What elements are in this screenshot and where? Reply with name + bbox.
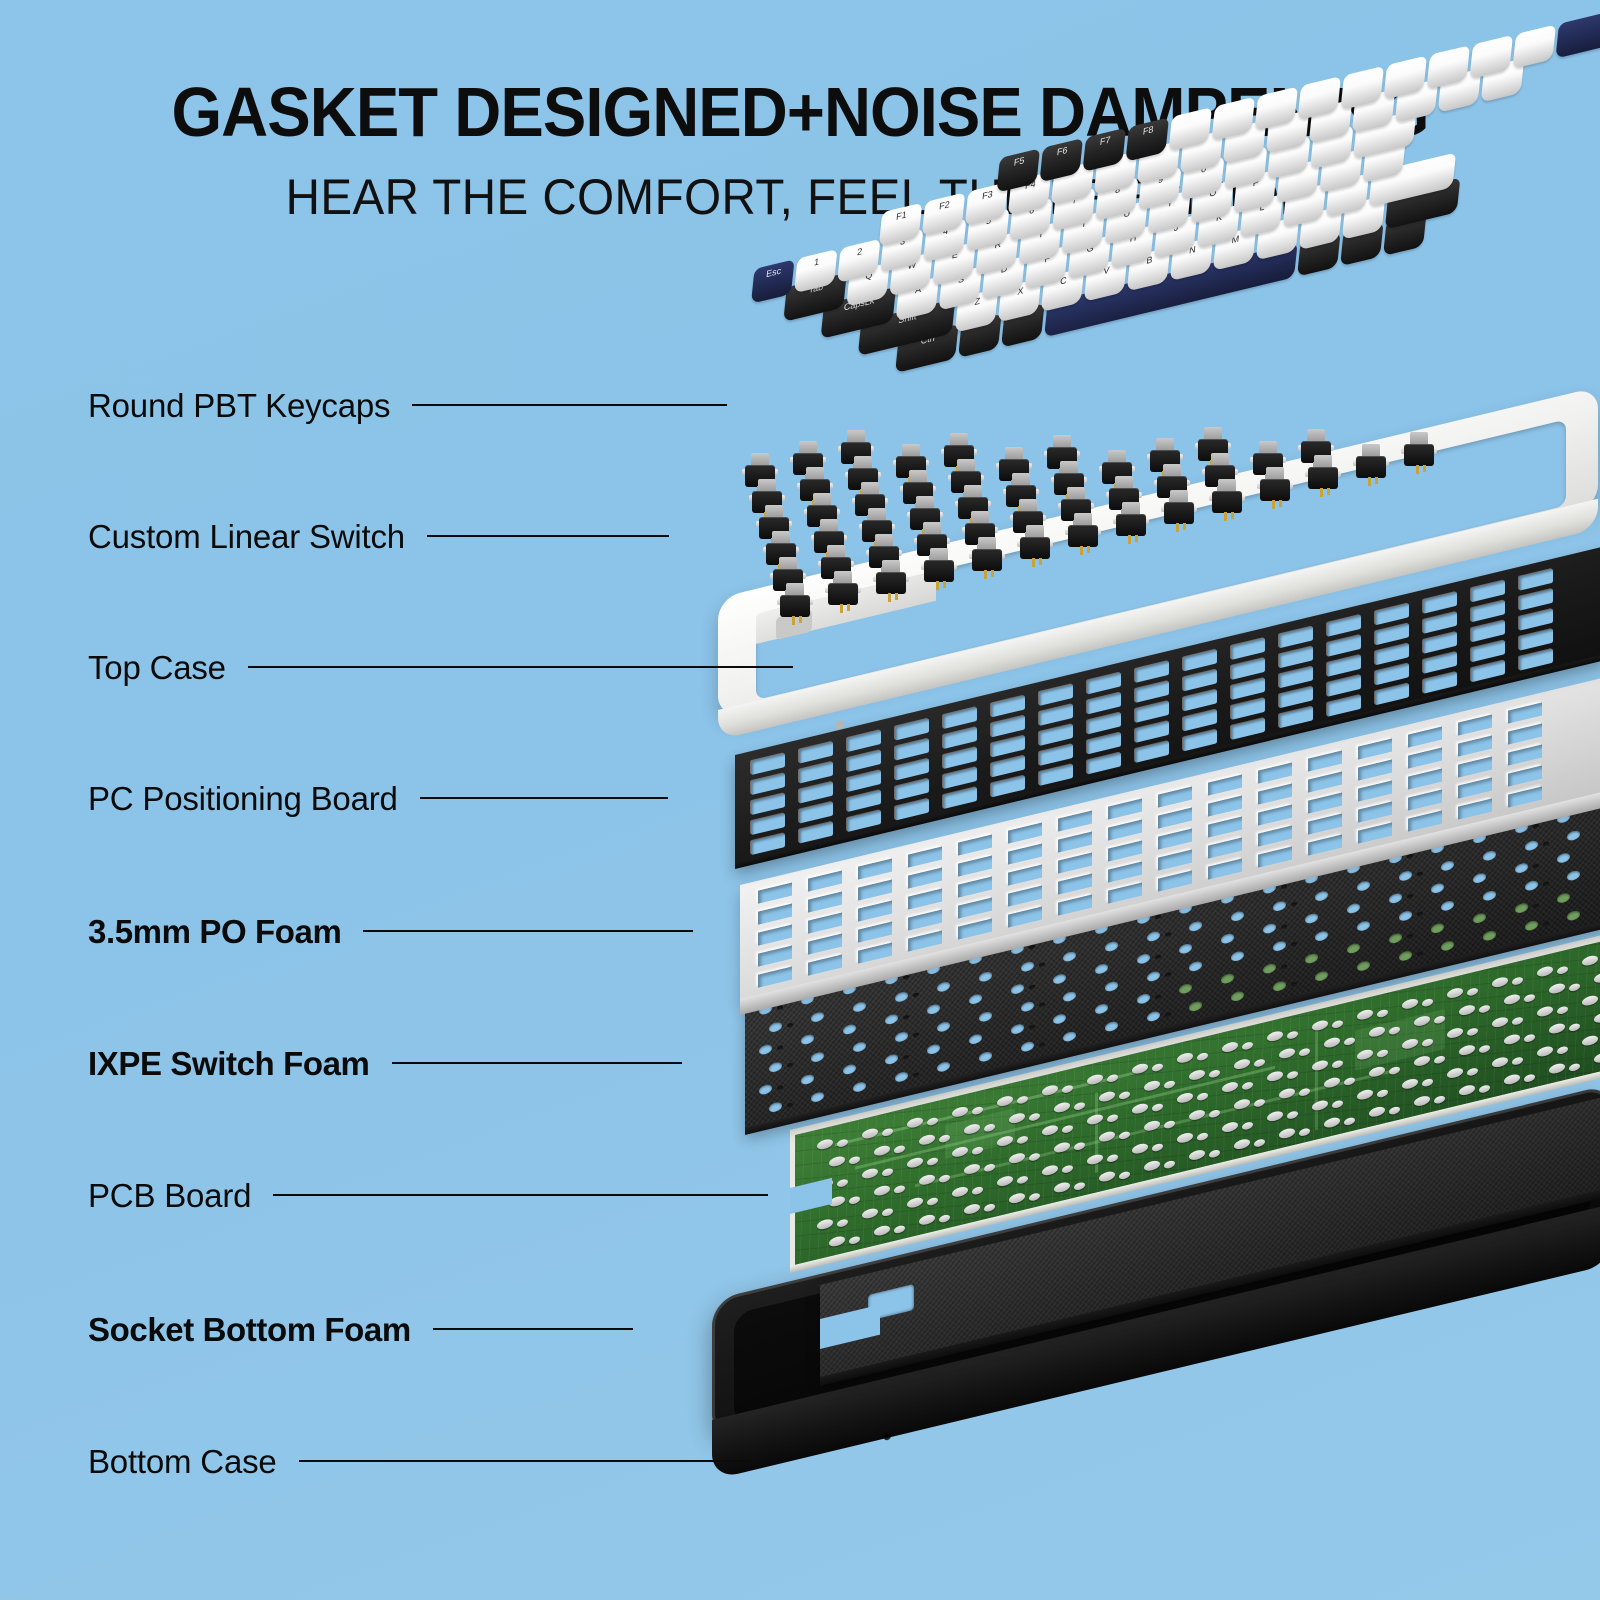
callout-pcb-board: PCB Board bbox=[88, 1172, 768, 1218]
callout-leader-line bbox=[363, 930, 693, 932]
callout-pc-positioning-board: PC Positioning Board bbox=[88, 775, 668, 821]
callout-top-case: Top Case bbox=[88, 644, 793, 690]
callout-round-pbt-keycaps: Round PBT Keycaps bbox=[88, 382, 727, 428]
callout-leader-line bbox=[420, 797, 668, 799]
callout-label-text: PCB Board bbox=[88, 1179, 251, 1212]
callout-label-text: IXPE Switch Foam bbox=[88, 1047, 370, 1080]
callout-label-text: Bottom Case bbox=[88, 1445, 277, 1478]
switch-unit bbox=[1356, 444, 1386, 484]
callout-ixpe-switch-foam: IXPE Switch Foam bbox=[88, 1040, 682, 1086]
callout-socket-bottom-foam: Socket Bottom Foam bbox=[88, 1306, 633, 1352]
switch-unit bbox=[1068, 513, 1098, 553]
callout-leader-line bbox=[427, 535, 669, 537]
callout-label-text: 3.5mm PO Foam bbox=[88, 915, 341, 948]
switch-unit bbox=[1164, 490, 1194, 530]
callout-label-text: Socket Bottom Foam bbox=[88, 1313, 411, 1346]
switch-unit bbox=[972, 537, 1002, 577]
switch-unit bbox=[1308, 455, 1338, 495]
callout-custom-linear-switch: Custom Linear Switch bbox=[88, 513, 669, 559]
keycap bbox=[1512, 24, 1556, 68]
switch-unit bbox=[780, 583, 810, 623]
callout-label-text: PC Positioning Board bbox=[88, 782, 398, 815]
callout-3-5mm-po-foam: 3.5mm PO Foam bbox=[88, 908, 693, 954]
callout-leader-line bbox=[412, 404, 727, 406]
keycap bbox=[1555, 4, 1600, 59]
switch-unit bbox=[1020, 525, 1050, 565]
switch-unit bbox=[1404, 432, 1434, 472]
switch-unit bbox=[828, 571, 858, 611]
callout-bottom-case: Bottom Case bbox=[88, 1438, 749, 1484]
callout-label-text: Custom Linear Switch bbox=[88, 520, 405, 553]
callout-leader-line bbox=[392, 1062, 682, 1064]
switch-unit bbox=[924, 548, 954, 588]
callout-leader-line bbox=[273, 1194, 768, 1196]
switch-unit bbox=[1116, 502, 1146, 542]
callout-leader-line bbox=[299, 1460, 749, 1462]
infographic-canvas: GASKET DESIGNED+NOISE DAMPENING HEAR THE… bbox=[0, 0, 1600, 1600]
switch-unit bbox=[876, 560, 906, 600]
callout-leader-line bbox=[248, 666, 793, 668]
callout-label-text: Top Case bbox=[88, 651, 226, 684]
switch-unit bbox=[1260, 467, 1290, 507]
callout-label-text: Round PBT Keycaps bbox=[88, 389, 390, 422]
callout-leader-line bbox=[433, 1328, 633, 1330]
switch-unit bbox=[1212, 479, 1242, 519]
